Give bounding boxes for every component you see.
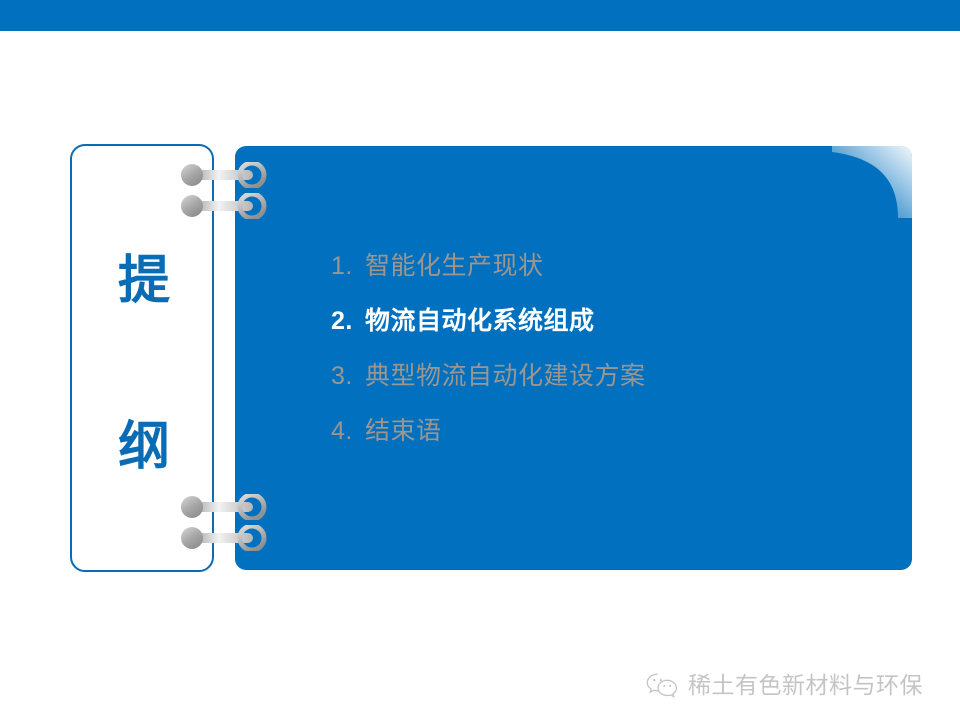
page-curl-highlight <box>832 146 912 218</box>
outline-item-3-number: 3. <box>331 360 365 393</box>
wechat-icon <box>645 672 679 700</box>
binder-ring-icon <box>178 494 268 520</box>
title-char-1: 提 <box>72 252 216 310</box>
top-accent-bar <box>0 0 960 31</box>
outline-item-4-number: 4. <box>331 415 365 448</box>
watermark-text: 稀土有色新材料与环保 <box>688 673 923 700</box>
binder-ring-icon <box>178 525 268 551</box>
outline-item-4-label: 结束语 <box>365 415 442 448</box>
binder-ring-icon <box>178 162 268 188</box>
outline-item-1-number: 1. <box>331 250 365 283</box>
watermark: 稀土有色新材料与环保 <box>645 672 923 700</box>
outline-item-4[interactable]: 4. 结束语 <box>331 415 871 448</box>
outline-content-panel: 1. 智能化生产现状 2. 物流自动化系统组成 3. 典型物流自动化建设方案 4… <box>235 146 912 570</box>
outline-item-2[interactable]: 2. 物流自动化系统组成 <box>331 305 871 338</box>
outline-item-3[interactable]: 3. 典型物流自动化建设方案 <box>331 360 871 393</box>
outline-item-2-number: 2. <box>331 305 365 338</box>
title-char-2: 纲 <box>72 418 216 476</box>
slide-stage: 1. 智能化生产现状 2. 物流自动化系统组成 3. 典型物流自动化建设方案 4… <box>0 0 960 720</box>
outline-item-1[interactable]: 1. 智能化生产现状 <box>331 250 871 283</box>
binder-ring-icon <box>178 193 268 219</box>
outline-item-2-label: 物流自动化系统组成 <box>365 305 595 338</box>
outline-item-1-label: 智能化生产现状 <box>365 250 544 283</box>
outline-list: 1. 智能化生产现状 2. 物流自动化系统组成 3. 典型物流自动化建设方案 4… <box>331 250 871 470</box>
outline-item-3-label: 典型物流自动化建设方案 <box>365 360 646 393</box>
